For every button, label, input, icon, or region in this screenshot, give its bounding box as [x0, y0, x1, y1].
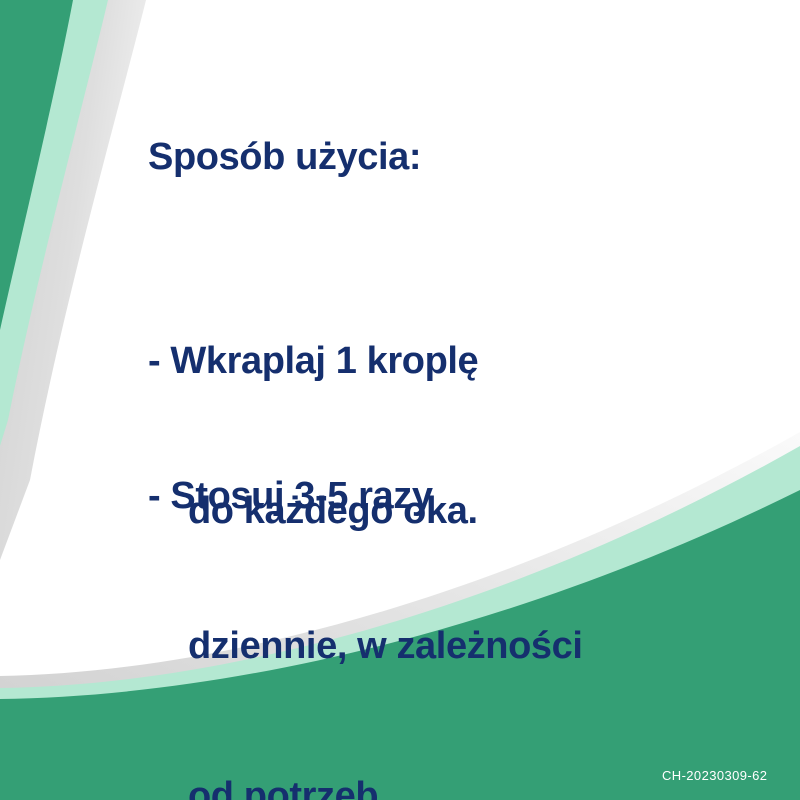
instruction-2-line-2: dziennie, w zależności [148, 621, 583, 671]
page-title: Sposób użycia: [148, 136, 421, 180]
promo-card: Sposób użycia: - Wkraplaj 1 kroplę do ka… [0, 0, 800, 800]
card-content: Sposób użycia: - Wkraplaj 1 kroplę do ka… [0, 0, 800, 800]
instruction-2-line-1: - Stosuj 3-5 razy [148, 471, 583, 521]
instruction-item-2: - Stosuj 3-5 razy dziennie, w zależności… [148, 371, 583, 800]
reference-code: CH-20230309-62 [662, 768, 767, 783]
instruction-2-line-3: od potrzeb. [148, 771, 583, 800]
